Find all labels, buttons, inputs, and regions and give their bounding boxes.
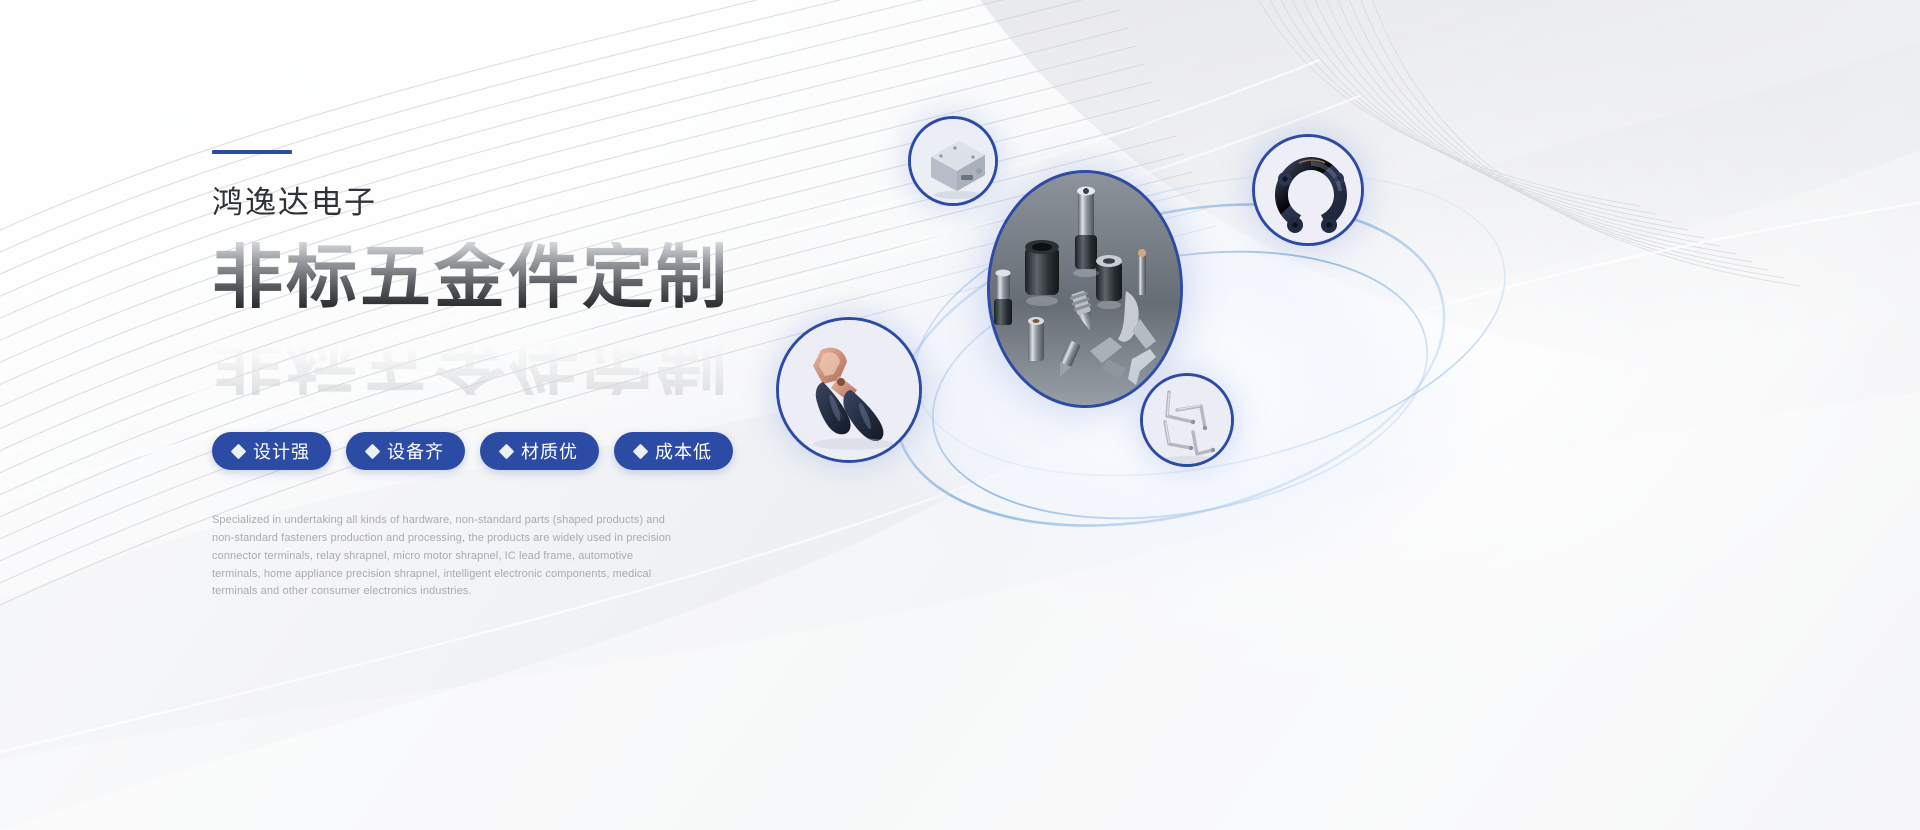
headline-reflection: 非标五金件定制 xyxy=(212,324,730,395)
feature-badge-equipment[interactable]: 设备齐 xyxy=(346,432,465,470)
navy-retaining-clip-photo[interactable] xyxy=(1252,134,1364,246)
feature-badge-cost[interactable]: 成本低 xyxy=(614,432,733,470)
banner-stage: 鸿逸达电子 非标五金件定制 非标五金件定制 设计强 设备齐 材质优 成本低 xyxy=(0,0,1920,830)
bent-metal-pins-photo[interactable] xyxy=(1140,373,1234,467)
product-showcase-orbit xyxy=(740,110,1840,630)
diamond-icon xyxy=(365,443,381,459)
page-title: 非标五金件定制 xyxy=(212,242,730,313)
battery-clamp-photo[interactable] xyxy=(776,317,922,463)
metal-parts-cluster-photo[interactable] xyxy=(987,170,1183,408)
metal-parts-illustration xyxy=(990,173,1183,408)
feature-badge-list: 设计强 设备齐 材质优 成本低 xyxy=(212,432,772,470)
diamond-icon xyxy=(231,443,247,459)
brand-name: 鸿逸达电子 xyxy=(212,186,772,220)
diamond-icon xyxy=(633,443,649,459)
battery-clamp-illustration xyxy=(779,320,922,463)
banner-text-column: 鸿逸达电子 非标五金件定制 非标五金件定制 设计强 设备齐 材质优 成本低 xyxy=(212,150,772,601)
feature-badge-label: 材质优 xyxy=(521,438,578,464)
headline-block: 非标五金件定制 非标五金件定制 xyxy=(212,242,772,364)
feature-badge-label: 设计强 xyxy=(253,438,310,464)
feature-badge-label: 设备齐 xyxy=(387,438,444,464)
diamond-icon xyxy=(499,443,515,459)
accent-bar xyxy=(212,150,292,154)
feature-badge-design[interactable]: 设计强 xyxy=(212,432,331,470)
metal-enclosure-box-photo[interactable] xyxy=(908,116,998,206)
feature-badge-label: 成本低 xyxy=(655,438,712,464)
feature-badge-material[interactable]: 材质优 xyxy=(480,432,599,470)
company-description: Specialized in undertaking all kinds of … xyxy=(212,512,682,601)
